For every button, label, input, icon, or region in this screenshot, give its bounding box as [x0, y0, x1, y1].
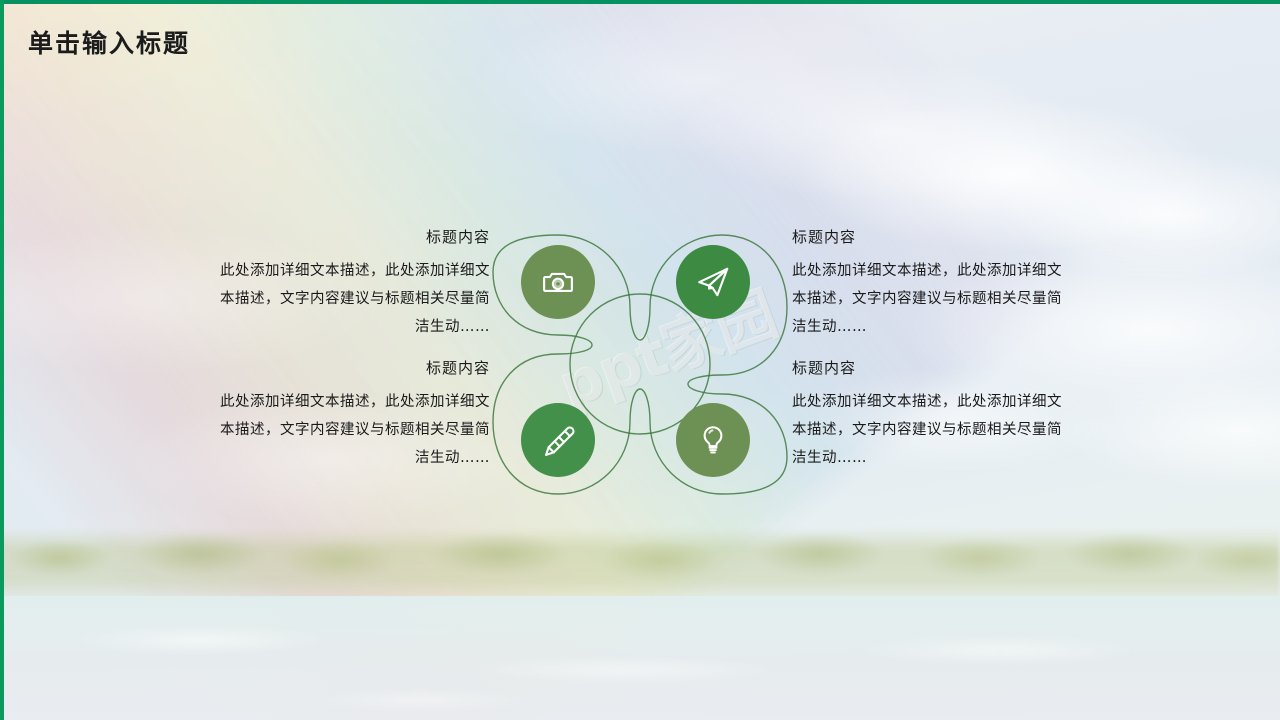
paper-plane-icon — [695, 264, 731, 300]
text-block-heading: 标题内容 — [792, 226, 1067, 248]
node-camera[interactable] — [521, 245, 595, 319]
slide-canvas: 单击输入标题 ppt家园 — [0, 0, 1280, 720]
frame-top-border — [0, 0, 1280, 4]
text-block-body: 此处添加详细文本描述，此处添加详细文本描述，文字内容建议与标题相关尽量简洁生动…… — [215, 257, 490, 341]
text-block-left-bottom[interactable]: 标题内容 此处添加详细文本描述，此处添加详细文本描述，文字内容建议与标题相关尽量… — [215, 357, 490, 472]
text-block-body: 此处添加详细文本描述，此处添加详细文本描述，文字内容建议与标题相关尽量简洁生动…… — [215, 388, 490, 472]
node-lightbulb[interactable] — [676, 403, 750, 477]
text-block-right-bottom[interactable]: 标题内容 此处添加详细文本描述，此处添加详细文本描述，文字内容建议与标题相关尽量… — [792, 357, 1067, 472]
text-block-body: 此处添加详细文本描述，此处添加详细文本描述，文字内容建议与标题相关尽量简洁生动…… — [792, 257, 1067, 341]
text-block-left-top[interactable]: 标题内容 此处添加详细文本描述，此处添加详细文本描述，文字内容建议与标题相关尽量… — [215, 226, 490, 341]
pencil-icon — [541, 423, 575, 457]
background-treeline — [0, 528, 1280, 604]
text-block-heading: 标题内容 — [215, 357, 490, 379]
background-water-texture — [0, 600, 1280, 720]
text-block-body: 此处添加详细文本描述，此处添加详细文本描述，文字内容建议与标题相关尽量简洁生动…… — [792, 388, 1067, 472]
node-pencil[interactable] — [521, 403, 595, 477]
lightbulb-icon — [697, 424, 729, 456]
node-paper-plane[interactable] — [676, 245, 750, 319]
text-block-heading: 标题内容 — [792, 357, 1067, 379]
text-block-heading: 标题内容 — [215, 226, 490, 248]
text-block-right-top[interactable]: 标题内容 此处添加详细文本描述，此处添加详细文本描述，文字内容建议与标题相关尽量… — [792, 226, 1067, 341]
frame-left-border — [0, 0, 4, 720]
camera-icon — [541, 265, 575, 299]
page-title[interactable]: 单击输入标题 — [28, 24, 190, 60]
